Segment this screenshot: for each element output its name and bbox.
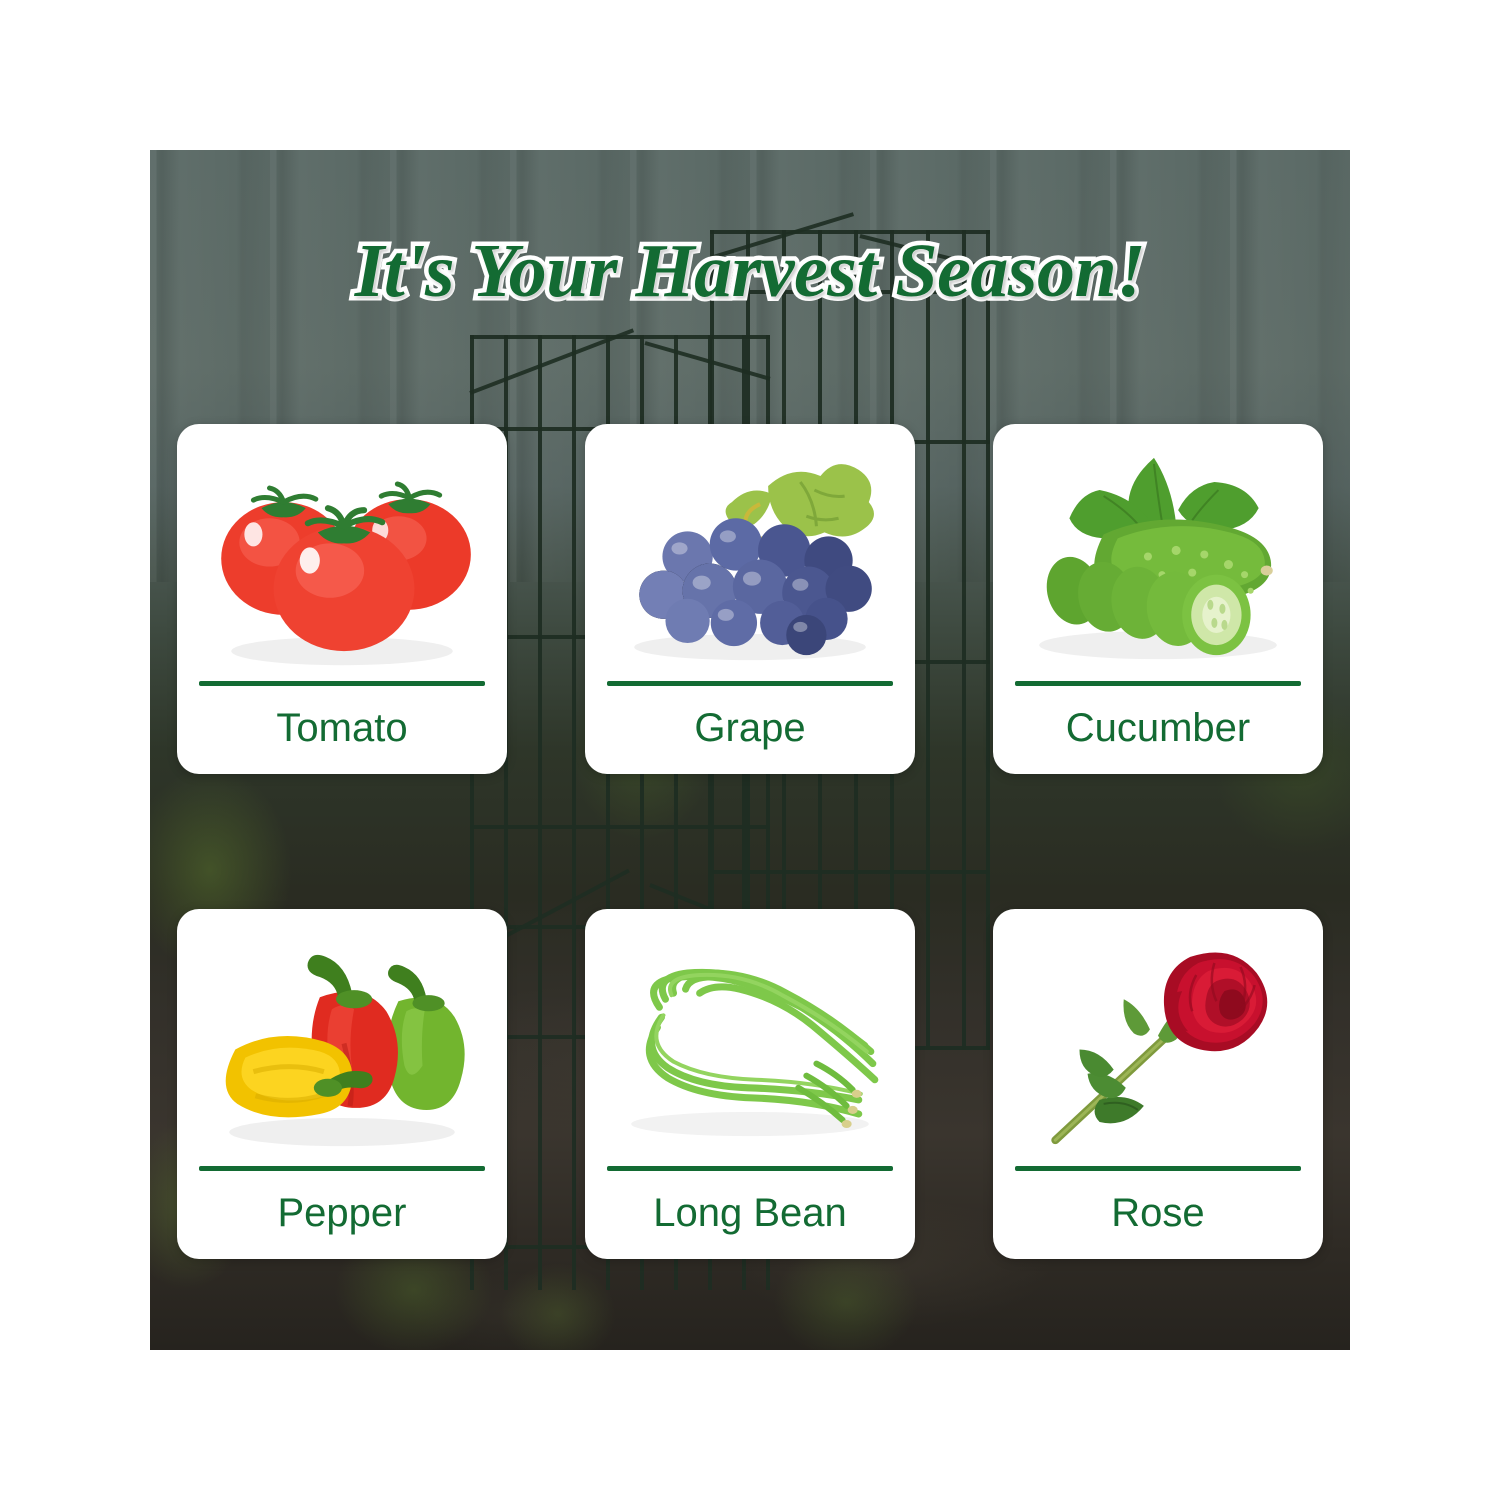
plant-card-pepper[interactable]: Pepper (177, 909, 507, 1259)
plant-card-label: Long Bean (585, 1171, 915, 1259)
grape-photo (585, 424, 915, 681)
plant-card-label: Pepper (177, 1171, 507, 1259)
cucumber-photo (993, 424, 1323, 681)
rose-photo (993, 909, 1323, 1166)
pepper-photo (177, 909, 507, 1166)
plant-card-grape[interactable]: Grape (585, 424, 915, 774)
plant-card-rose[interactable]: Rose (993, 909, 1323, 1259)
plant-card-label: Grape (585, 686, 915, 774)
plant-card-label: Cucumber (993, 686, 1323, 774)
plant-card-label: Tomato (177, 686, 507, 774)
plant-card-tomato[interactable]: Tomato (177, 424, 507, 774)
long-bean-photo (585, 909, 915, 1166)
plant-card-long-bean[interactable]: Long Bean (585, 909, 915, 1259)
plant-card-cucumber[interactable]: Cucumber (993, 424, 1323, 774)
poster: It's Your Harvest Season! (150, 150, 1350, 1350)
tomato-photo (177, 424, 507, 681)
plant-card-label: Rose (993, 1171, 1323, 1259)
plant-card-grid: Tomato (177, 424, 1323, 1259)
page-title: It's Your Harvest Season! (150, 228, 1350, 315)
